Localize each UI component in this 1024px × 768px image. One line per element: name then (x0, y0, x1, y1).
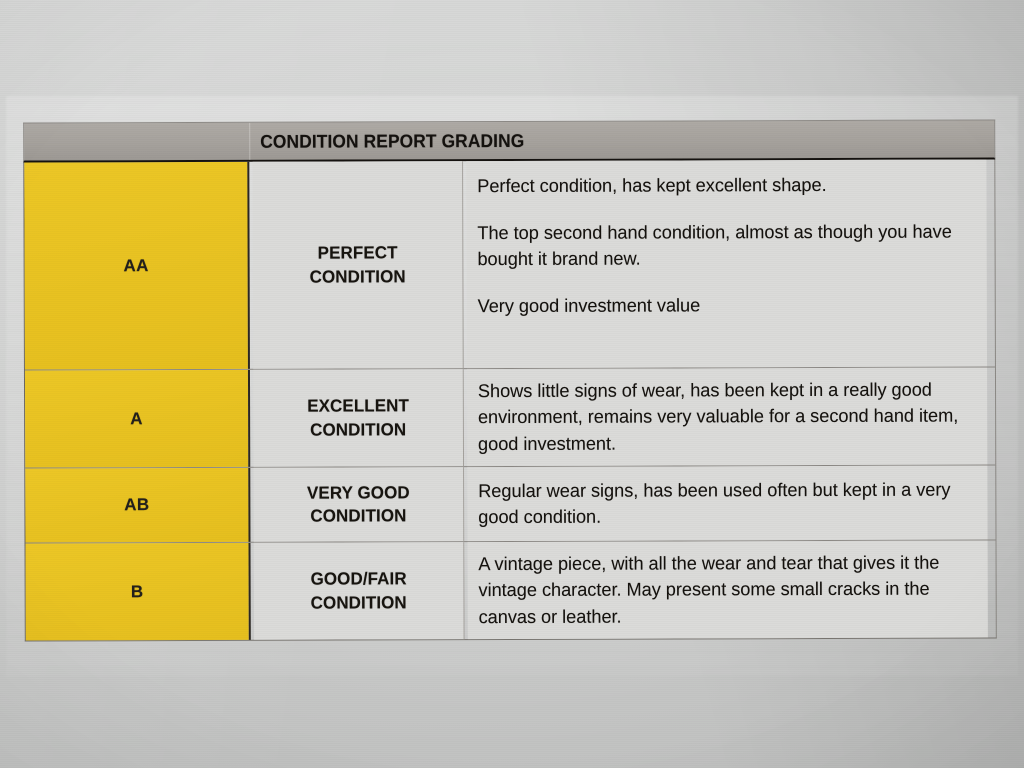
description-cell-b: A vintage piece, with all the wear and t… (468, 541, 988, 640)
header-column-divider (249, 123, 250, 160)
table-row: A EXCELLENT CONDITION Shows little signs… (25, 367, 995, 468)
table-title: CONDITION REPORT GRADING (260, 129, 524, 152)
condition-name-line-2: CONDITION (310, 418, 406, 442)
description-paragraph: Shows little signs of wear, has been kep… (478, 377, 974, 457)
grade-code-cell-aa: AA (24, 162, 250, 370)
description-paragraph: The top second hand condition, almost as… (477, 219, 973, 273)
description-paragraph: A vintage piece, with all the wear and t… (478, 550, 974, 630)
description-cell-ab: Regular wear signs, has been used often … (467, 466, 987, 542)
condition-name-cell-ab: VERY GOOD CONDITION (254, 467, 465, 542)
condition-name-line-1: GOOD/FAIR (311, 568, 407, 592)
table-row: AB VERY GOOD CONDITION Regular wear sign… (25, 465, 995, 543)
condition-name-line-1: VERY GOOD (307, 481, 410, 505)
condition-report-grading-table: CONDITION REPORT GRADING AA PERFECT COND… (23, 119, 997, 641)
table-row: B GOOD/FAIR CONDITION A vintage piece, w… (26, 540, 996, 640)
condition-name-line-1: PERFECT (318, 242, 398, 266)
condition-name-line-2: CONDITION (310, 265, 406, 289)
grade-code-cell-b: B (26, 543, 251, 641)
condition-name-line-2: CONDITION (311, 591, 407, 615)
condition-name-cell-b: GOOD/FAIR CONDITION (254, 542, 465, 640)
condition-name-cell-aa: PERFECT CONDITION (253, 161, 464, 369)
table-header: CONDITION REPORT GRADING (23, 119, 995, 162)
condition-name-line-1: EXCELLENT (307, 395, 409, 419)
grade-code-cell-ab: AB (25, 468, 250, 543)
description-cell-a: Shows little signs of wear, has been kep… (467, 368, 987, 467)
grade-code-cell-a: A (25, 370, 250, 468)
table-body: AA PERFECT CONDITION Perfect condition, … (23, 159, 997, 641)
table-row: AA PERFECT CONDITION Perfect condition, … (24, 159, 995, 370)
description-cell-aa: Perfect condition, has kept excellent sh… (466, 160, 987, 369)
condition-name-cell-a: EXCELLENT CONDITION (253, 369, 464, 467)
description-paragraph: Regular wear signs, has been used often … (478, 476, 974, 530)
description-paragraph: Perfect condition, has kept excellent sh… (477, 172, 973, 200)
description-paragraph: Very good investment value (478, 292, 974, 320)
condition-name-line-2: CONDITION (310, 504, 406, 528)
